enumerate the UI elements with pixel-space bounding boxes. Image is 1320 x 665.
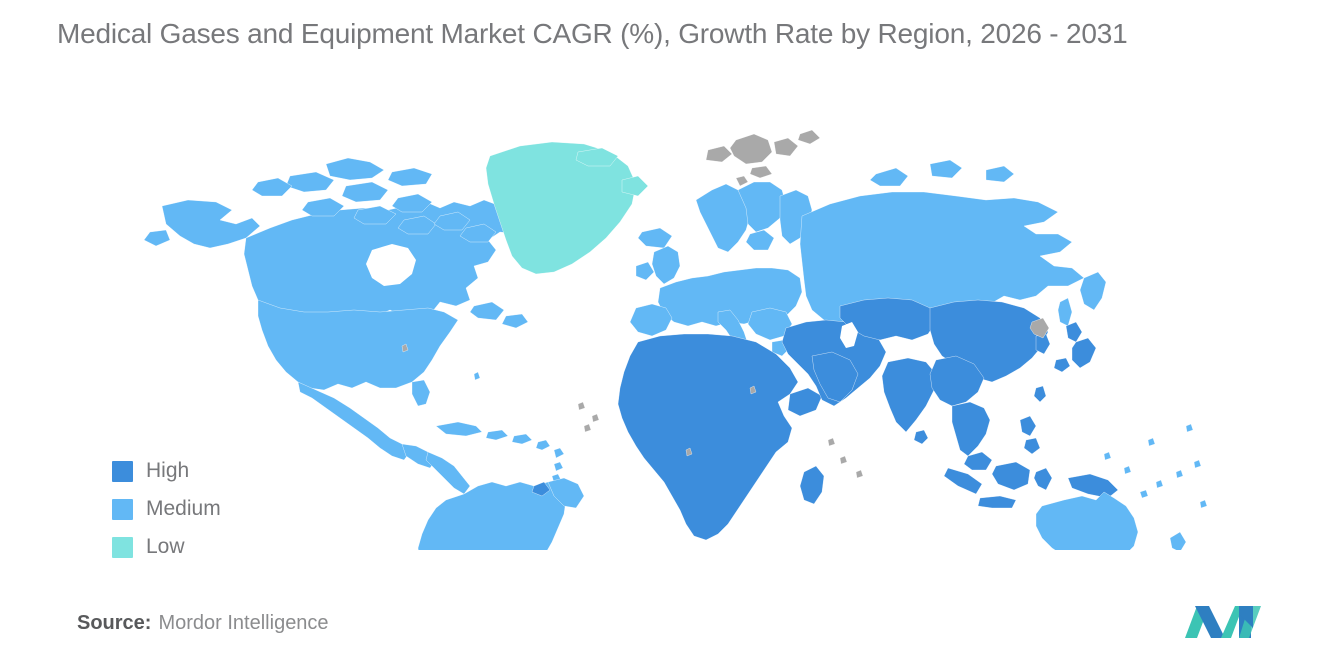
region-europe bbox=[630, 182, 812, 356]
legend-item-medium[interactable]: Medium bbox=[112, 490, 332, 528]
region-greenland bbox=[486, 142, 672, 274]
region-asia-high bbox=[782, 298, 1118, 508]
legend-label-high: High bbox=[146, 459, 189, 483]
legend-label-medium: Medium bbox=[146, 497, 221, 521]
region-south-america bbox=[418, 478, 584, 550]
mordor-intelligence-logo bbox=[1183, 600, 1265, 642]
legend-item-low[interactable]: Low bbox=[112, 528, 332, 566]
legend-label-low: Low bbox=[146, 535, 185, 559]
legend-item-high[interactable]: High bbox=[112, 452, 332, 490]
legend-swatch-low bbox=[112, 537, 133, 558]
region-africa bbox=[618, 334, 824, 540]
region-russia bbox=[800, 160, 1106, 326]
region-no-data-svalbard bbox=[706, 130, 820, 186]
legend-swatch-high bbox=[112, 461, 133, 482]
region-oceania bbox=[1036, 424, 1207, 550]
map-legend: High Medium Low bbox=[112, 452, 332, 566]
page-title: Medical Gases and Equipment Market CAGR … bbox=[57, 18, 1128, 50]
source-value: Mordor Intelligence bbox=[158, 612, 328, 634]
source-label: Source: bbox=[77, 612, 151, 634]
legend-swatch-medium bbox=[112, 499, 133, 520]
source-line: Source:Mordor Intelligence bbox=[77, 612, 329, 635]
